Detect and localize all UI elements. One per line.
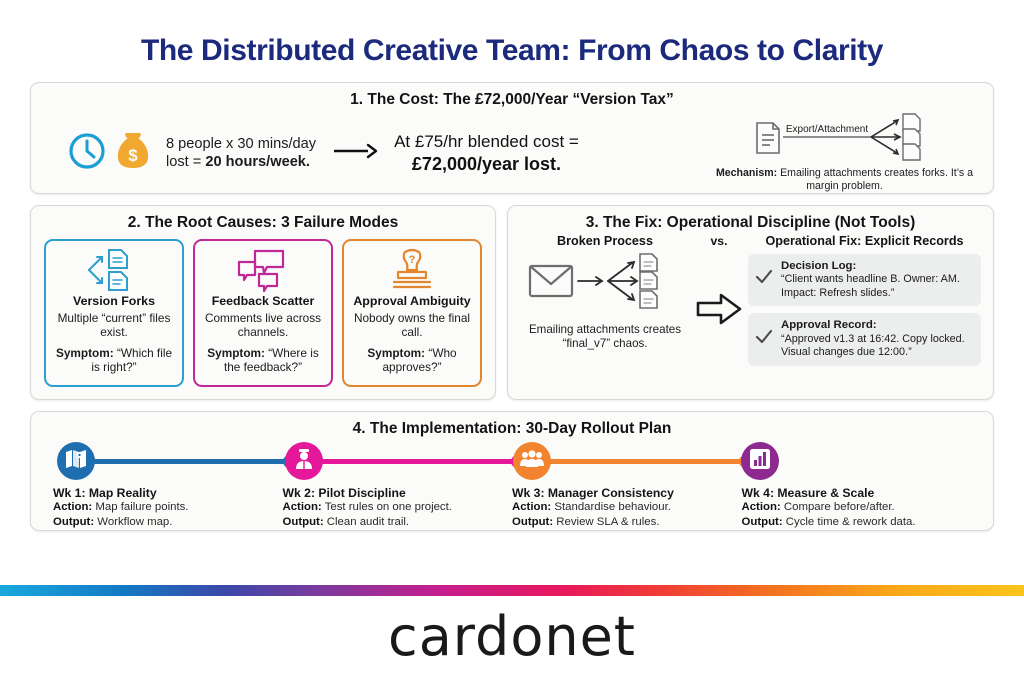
cost-input-line2: lost = 20 hours/week.: [166, 153, 316, 171]
step-title: Wk 1: Map Reality: [53, 486, 275, 500]
mechanism-block: Export/Attachment Mechanism: E: [714, 113, 979, 193]
map-icon: [65, 448, 87, 475]
money-bag-icon: $: [114, 131, 152, 176]
timeline-segment-3: [549, 459, 749, 464]
record-text: Approval Record:“Approved v1.3 at 16:42.…: [781, 318, 973, 359]
panel-causes-title: 2. The Root Causes: 3 Failure Modes: [40, 206, 486, 232]
step-output: Output: Review SLA & rules.: [512, 515, 734, 530]
cost-result-text: At £75/hr blended cost = £72,000/year lo…: [394, 131, 579, 175]
step-output: Output: Workflow map.: [53, 515, 275, 530]
fix-header-operational: Operational Fix: Explicit Records: [748, 234, 981, 248]
cause-card-version-forks[interactable]: Version Forks Multiple “current” files e…: [44, 239, 184, 387]
people-group-icon: [520, 448, 544, 475]
cause-card-desc: Comments live across channels.: [201, 311, 325, 340]
cause-card-symptom: Symptom: “Who approves?”: [350, 346, 474, 375]
cause-card-title: Feedback Scatter: [201, 294, 325, 308]
step-action: Action: Standardise behaviour.: [512, 500, 734, 515]
broken-process-caption: Emailing attachments creates “final_v7” …: [520, 323, 690, 352]
panel-the-fix: 3. The Fix: Operational Discipline (Not …: [507, 205, 994, 400]
big-right-arrow-icon: [690, 252, 748, 366]
middle-row: 2. The Root Causes: 3 Failure Modes: [30, 205, 994, 400]
step-action: Action: Map failure points.: [53, 500, 275, 515]
rollout-step-week-4: Wk 4: Measure & Scale Action: Compare be…: [742, 486, 972, 530]
panel-impl-title: 4. The Implementation: 30-Day Rollout Pl…: [45, 412, 979, 438]
svg-text:Export/Attachment: Export/Attachment: [785, 124, 867, 135]
pilot-person-icon: [293, 448, 315, 475]
rollout-steps: Wk 1: Map Reality Action: Map failure po…: [45, 486, 979, 530]
step-title: Wk 2: Pilot Discipline: [283, 486, 505, 500]
cause-cards: Version Forks Multiple “current” files e…: [40, 239, 486, 387]
file-fork-icon: [52, 248, 176, 292]
timeline-node-week-4[interactable]: [741, 442, 779, 480]
fix-header-broken: Broken Process: [520, 234, 690, 248]
step-title: Wk 3: Manager Consistency: [512, 486, 734, 500]
chat-bubbles-icon: [201, 248, 325, 292]
svg-text:$: $: [128, 146, 138, 165]
approval-stamp-icon: ?: [350, 248, 474, 292]
timeline-segment-1: [93, 459, 293, 464]
panel-root-causes: 2. The Root Causes: 3 Failure Modes: [30, 205, 496, 400]
panel-the-cost: 1. The Cost: The £72,000/Year “Version T…: [30, 82, 994, 194]
panel-cost-title: 1. The Cost: The £72,000/Year “Version T…: [45, 83, 979, 109]
operational-records-list: Decision Log:“Client wants headline B. O…: [748, 252, 981, 366]
cause-card-title: Version Forks: [52, 294, 176, 308]
cost-input-line1: 8 people x 30 mins/day: [166, 135, 316, 153]
rollout-step-week-3: Wk 3: Manager Consistency Action: Standa…: [512, 486, 742, 530]
record-approval-record[interactable]: Approval Record:“Approved v1.3 at 16:42.…: [748, 313, 981, 365]
check-icon: [754, 267, 774, 292]
cost-arrow-icon: [332, 141, 378, 166]
cause-card-symptom: Symptom: “Where is the feedback?”: [201, 346, 325, 375]
cause-card-title: Approval Ambiguity: [350, 294, 474, 308]
fix-header-row: Broken Process vs. Operational Fix: Expl…: [520, 234, 981, 248]
cause-card-symptom: Symptom: “Which file is right?”: [52, 346, 176, 375]
export-attachment-diagram-icon: Export/Attachment: [745, 148, 945, 165]
cause-card-desc: Nobody owns the final call.: [350, 311, 474, 340]
rollout-timeline: [57, 442, 967, 482]
record-text: Decision Log:“Client wants headline B. O…: [781, 259, 973, 300]
panel-implementation: 4. The Implementation: 30-Day Rollout Pl…: [30, 411, 994, 531]
cost-input-text: 8 people x 30 mins/day lost = 20 hours/w…: [166, 135, 316, 171]
fix-header-vs: vs.: [690, 234, 748, 248]
cardonet-logo: cardonet: [0, 605, 1024, 668]
svg-text:?: ?: [409, 254, 416, 266]
rollout-step-week-2: Wk 2: Pilot Discipline Action: Test rule…: [283, 486, 513, 530]
brand-gradient-bar: [0, 585, 1024, 596]
step-output: Output: Clean audit trail.: [283, 515, 505, 530]
page-title: The Distributed Creative Team: From Chao…: [30, 34, 994, 68]
timeline-segment-2: [321, 459, 521, 464]
broken-process-block: Emailing attachments creates “final_v7” …: [520, 252, 690, 366]
timeline-node-week-1[interactable]: [57, 442, 95, 480]
cost-icons: $: [45, 131, 152, 176]
panel-fix-title: 3. The Fix: Operational Discipline (Not …: [520, 206, 981, 232]
cause-card-desc: Multiple “current” files exist.: [52, 311, 176, 340]
cost-result-line2: £72,000/year lost.: [394, 153, 579, 176]
timeline-node-week-3[interactable]: [513, 442, 551, 480]
rollout-step-week-1: Wk 1: Map Reality Action: Map failure po…: [53, 486, 283, 530]
clock-icon: [67, 131, 107, 176]
mechanism-caption: Mechanism: Emailing attachments creates …: [714, 167, 975, 193]
cause-card-approval-ambiguity[interactable]: ? Approval Ambiguity Nobody owns the fin…: [342, 239, 482, 387]
step-title: Wk 4: Measure & Scale: [742, 486, 964, 500]
step-action: Action: Compare before/after.: [742, 500, 964, 515]
infographic-canvas: The Distributed Creative Team: From Chao…: [0, 0, 1024, 575]
cause-card-feedback-scatter[interactable]: Feedback Scatter Comments live across ch…: [193, 239, 333, 387]
record-decision-log[interactable]: Decision Log:“Client wants headline B. O…: [748, 254, 981, 306]
step-action: Action: Test rules on one project.: [283, 500, 505, 515]
cost-row: $ 8 people x 30 mins/day lost = 20 hours…: [45, 113, 979, 193]
envelope-fork-icon: [524, 301, 686, 318]
cost-result-line1: At £75/hr blended cost =: [394, 131, 579, 152]
step-output: Output: Cycle time & rework data.: [742, 515, 964, 530]
check-icon: [754, 327, 774, 352]
bar-chart-icon: [749, 448, 771, 475]
timeline-node-week-2[interactable]: [285, 442, 323, 480]
fix-body-row: Emailing attachments creates “final_v7” …: [520, 252, 981, 366]
